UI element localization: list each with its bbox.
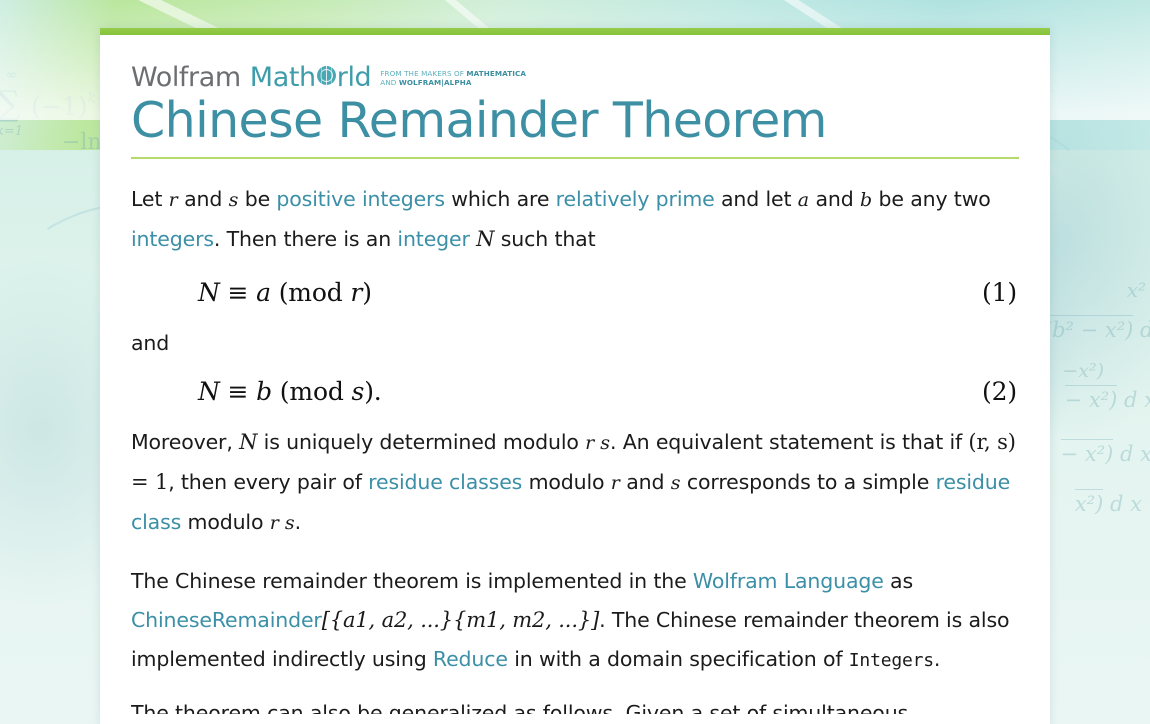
p1-var-a: a	[798, 189, 809, 211]
tagline-line-1-bold: MATHEMATICA	[466, 69, 526, 78]
p2-text-1: Moreover,	[131, 430, 239, 454]
link-positive-integers[interactable]: positive integers	[276, 187, 444, 211]
eq2-modulus: s	[352, 377, 365, 406]
logo-world-text: rld	[337, 64, 372, 91]
conjunction-and: and	[131, 324, 1019, 363]
p2-text-8: modulo	[181, 510, 270, 534]
p1-text-6: and	[809, 187, 860, 211]
tagline-line-2-bold: WOLFRAM|ALPHA	[399, 78, 472, 87]
tagline-line-2: AND WOLFRAM|ALPHA	[380, 78, 471, 87]
tagline-line-1-plain: FROM THE MAKERS OF	[380, 69, 466, 78]
link-chinese-remainder[interactable]: ChineseRemainder	[131, 608, 322, 632]
p2-var-rs-2: r s	[270, 512, 295, 534]
equation-1-row: N ≡ a (mod r) (1)	[131, 273, 1019, 312]
equation-1-number: (1)	[982, 273, 1019, 312]
title-divider	[131, 157, 1019, 159]
p1-var-b: b	[860, 189, 872, 211]
paragraph-2: Moreover, N is uniquely determined modul…	[131, 423, 1019, 543]
site-logo[interactable]: Wolfram Mathrld FROM THE MAKERS OF MATHE…	[131, 57, 1019, 91]
p1-text-3: be	[238, 187, 276, 211]
p1-text-7: be any two	[872, 187, 991, 211]
link-reduce[interactable]: Reduce	[433, 647, 508, 671]
p1-var-s: s	[229, 189, 239, 211]
p3-text-5: .	[934, 647, 940, 671]
paragraph-4-clipped: The theorem can also be generalized as f…	[131, 694, 1019, 714]
logo-wolfram-text: Wolfram	[131, 64, 241, 91]
card-body: Wolfram Mathrld FROM THE MAKERS OF MATHE…	[100, 35, 1050, 714]
eq1-rhs: a	[256, 278, 271, 307]
eq2-mod-close: ).	[364, 377, 381, 406]
equation-2-number: (2)	[982, 372, 1019, 411]
link-integers[interactable]: integers	[131, 227, 214, 251]
background-formula-ln: −ln	[62, 130, 102, 155]
p2-var-N: N	[239, 430, 257, 454]
p2-text-7: corresponds to a simple	[681, 470, 936, 494]
p2-var-rs: r s	[585, 432, 610, 454]
p2-text-6: and	[620, 470, 671, 494]
paragraph-3: The Chinese remainder theorem is impleme…	[131, 562, 1019, 680]
page-title: Chinese Remainder Theorem	[131, 95, 1019, 148]
p1-text-4: which are	[445, 187, 556, 211]
paragraph-1: Let r and s be positive integers which a…	[131, 180, 1019, 259]
eq1-relation: ≡	[228, 278, 249, 307]
link-integer[interactable]: integer	[397, 227, 469, 251]
eq1-lhs: N	[198, 278, 220, 307]
p2-var-s: s	[671, 472, 681, 494]
p1-text-10: such that	[494, 227, 595, 251]
p3-code-args: [{a1, a2, ...}{m1, m2, ...}]	[322, 608, 599, 632]
background-formula-frac-4: − x²) d x	[1061, 442, 1150, 466]
eq2-mod-open: (mod	[280, 377, 344, 406]
eq1-modulus: r	[350, 278, 362, 307]
article-content: Let r and s be positive integers which a…	[131, 180, 1019, 714]
equation-2: N ≡ b (mod s).	[131, 372, 982, 411]
p1-var-r: r	[169, 189, 178, 211]
p1-text-2: and	[178, 187, 229, 211]
p3-text-1: The Chinese remainder theorem is impleme…	[131, 569, 693, 593]
p1-text-8: . Then there is an	[214, 227, 398, 251]
eq2-rhs: b	[256, 377, 272, 406]
link-residue-classes[interactable]: residue classes	[368, 470, 522, 494]
article-card: Wolfram Mathrld FROM THE MAKERS OF MATHE…	[100, 28, 1050, 724]
p2-var-r: r	[611, 472, 620, 494]
globe-icon	[317, 66, 336, 85]
background-formula-frac-3: − x²) d x	[1065, 388, 1150, 412]
link-relatively-prime[interactable]: relatively prime	[556, 187, 715, 211]
p1-var-N: N	[476, 227, 494, 251]
p2-text-4: , then every pair of	[168, 470, 368, 494]
p2-text-9: .	[295, 510, 301, 534]
eq1-mod-close: )	[362, 278, 372, 307]
background-formula-frac-1: (b² − x²) d x	[1044, 318, 1150, 342]
logo-mathworld-text: Mathrld	[250, 64, 372, 91]
logo-math-text: Math	[250, 64, 316, 91]
link-wolfram-language[interactable]: Wolfram Language	[693, 569, 884, 593]
card-top-accent-bar	[100, 28, 1050, 35]
p2-text-3: . An equivalent statement is that if	[610, 430, 968, 454]
p3-mono-integers: Integers	[849, 650, 934, 671]
tagline-line-1: FROM THE MAKERS OF MATHEMATICA	[380, 69, 526, 78]
eq2-relation: ≡	[228, 377, 249, 406]
logo-tagline: FROM THE MAKERS OF MATHEMATICA AND WOLFR…	[380, 69, 526, 91]
background-formula-frac-5: x²) d x	[1075, 492, 1142, 516]
eq2-lhs: N	[198, 377, 220, 406]
eq1-mod-open: (mod	[279, 278, 343, 307]
p1-text-1: Let	[131, 187, 169, 211]
p1-text-5: and let	[715, 187, 798, 211]
background-formula-x2: x²	[1127, 278, 1146, 302]
tagline-line-2-plain: AND	[380, 78, 399, 87]
p2-text-2: is uniquely determined modulo	[257, 430, 585, 454]
p2-text-5: modulo	[522, 470, 611, 494]
p3-text-4: in with a domain specification of	[508, 647, 849, 671]
background-formula-frac-2: −x²)	[1062, 360, 1104, 382]
equation-1: N ≡ a (mod r)	[131, 273, 982, 312]
p3-text-2: as	[884, 569, 913, 593]
equation-2-row: N ≡ b (mod s). (2)	[131, 372, 1019, 411]
